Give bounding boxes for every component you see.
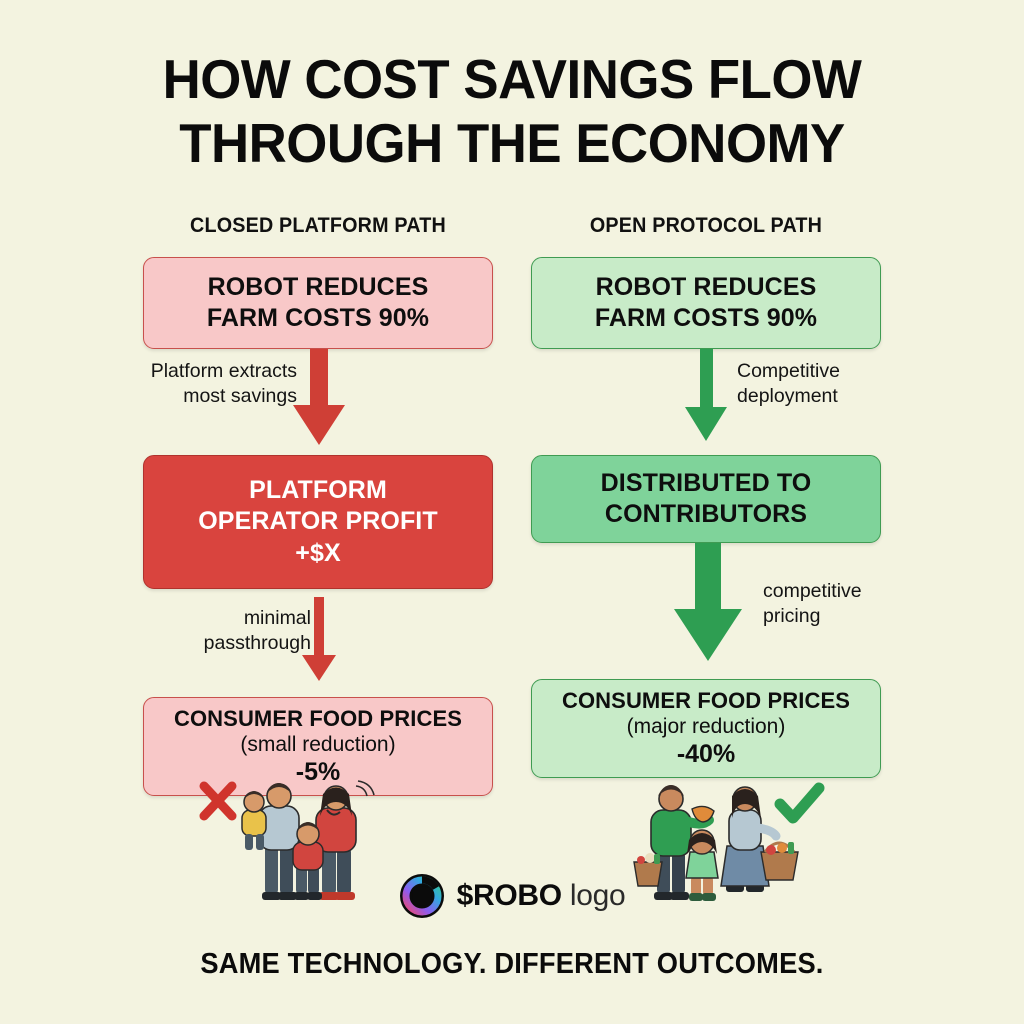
medium-green-down-arrow-icon xyxy=(683,349,729,445)
connector-label-platform-extracts: Platform extracts most savings xyxy=(151,359,297,409)
box-robot-reduces-farm-costs-closed: ROBOT REDUCES FARM COSTS 90% xyxy=(143,257,493,349)
thick-red-down-arrow-icon xyxy=(291,349,347,449)
column-open-protocol-path: OPEN PROTOCOL PATH ROBOT REDUCES FARM CO… xyxy=(531,214,881,778)
thin-red-down-arrow-icon xyxy=(300,597,338,683)
box-line: ROBOT REDUCES xyxy=(207,272,429,304)
column-header-closed: CLOSED PLATFORM PATH xyxy=(154,214,483,238)
box-heading: CONSUMER FOOD PRICES xyxy=(174,706,462,732)
box-line: ROBOT REDUCES xyxy=(595,272,817,304)
box-robot-reduces-farm-costs-open: ROBOT REDUCES FARM COSTS 90% xyxy=(531,257,881,349)
thick-green-down-arrow-icon xyxy=(672,543,744,665)
box-line: PLATFORM xyxy=(198,475,437,507)
infographic-canvas: HOW COST SAVINGS FLOW THROUGH THE ECONOM… xyxy=(0,0,1024,1024)
connector-minimal-passthrough: minimal passthrough xyxy=(143,589,493,697)
logo-suffix: logo xyxy=(570,879,626,912)
box-value: -40% xyxy=(677,740,735,769)
footer-tagline: SAME TECHNOLOGY. DIFFERENT OUTCOMES. xyxy=(31,948,994,981)
page-title: HOW COST SAVINGS FLOW THROUGH THE ECONOM… xyxy=(20,48,1003,176)
box-line: FARM COSTS 90% xyxy=(595,303,817,335)
column-closed-platform-path: CLOSED PLATFORM PATH ROBOT REDUCES FARM … xyxy=(143,214,493,796)
box-subtext: (small reduction) xyxy=(240,733,395,757)
box-heading: CONSUMER FOOD PRICES xyxy=(562,688,850,714)
box-platform-operator-profit: PLATFORM OPERATOR PROFIT +$X xyxy=(143,455,493,589)
box-subtext: (major reduction) xyxy=(627,715,786,739)
logo-label: $ROBO logo xyxy=(457,879,626,913)
connector-label-minimal-passthrough: minimal passthrough xyxy=(204,606,311,656)
red-x-icon xyxy=(204,786,232,816)
connector-label-competitive-deployment: Competitive deployment xyxy=(737,359,840,409)
robo-gradient-ring-icon xyxy=(399,873,445,919)
box-line: OPERATOR PROFIT xyxy=(198,506,437,538)
box-line: CONTRIBUTORS xyxy=(601,499,812,531)
title-line-2: THROUGH THE ECONOMY xyxy=(20,112,1003,176)
box-line: FARM COSTS 90% xyxy=(207,303,429,335)
box-line: +$X xyxy=(198,538,437,570)
connector-competitive-pricing: competitive pricing xyxy=(531,543,881,679)
green-check-icon xyxy=(780,788,819,818)
connector-label-competitive-pricing: competitive pricing xyxy=(763,579,862,629)
column-header-open: OPEN PROTOCOL PATH xyxy=(542,214,871,238)
box-consumer-food-prices-open: CONSUMER FOOD PRICES (major reduction) -… xyxy=(531,679,881,778)
box-line: DISTRIBUTED TO xyxy=(601,468,812,500)
logo-ticker: $ROBO xyxy=(457,879,562,912)
title-line-1: HOW COST SAVINGS FLOW xyxy=(20,48,1003,112)
connector-platform-extracts: Platform extracts most savings xyxy=(143,349,493,455)
connector-competitive-deployment: Competitive deployment xyxy=(531,349,881,455)
box-distributed-to-contributors: DISTRIBUTED TO CONTRIBUTORS xyxy=(531,455,881,543)
brand-logo: $ROBO logo xyxy=(0,873,1024,919)
